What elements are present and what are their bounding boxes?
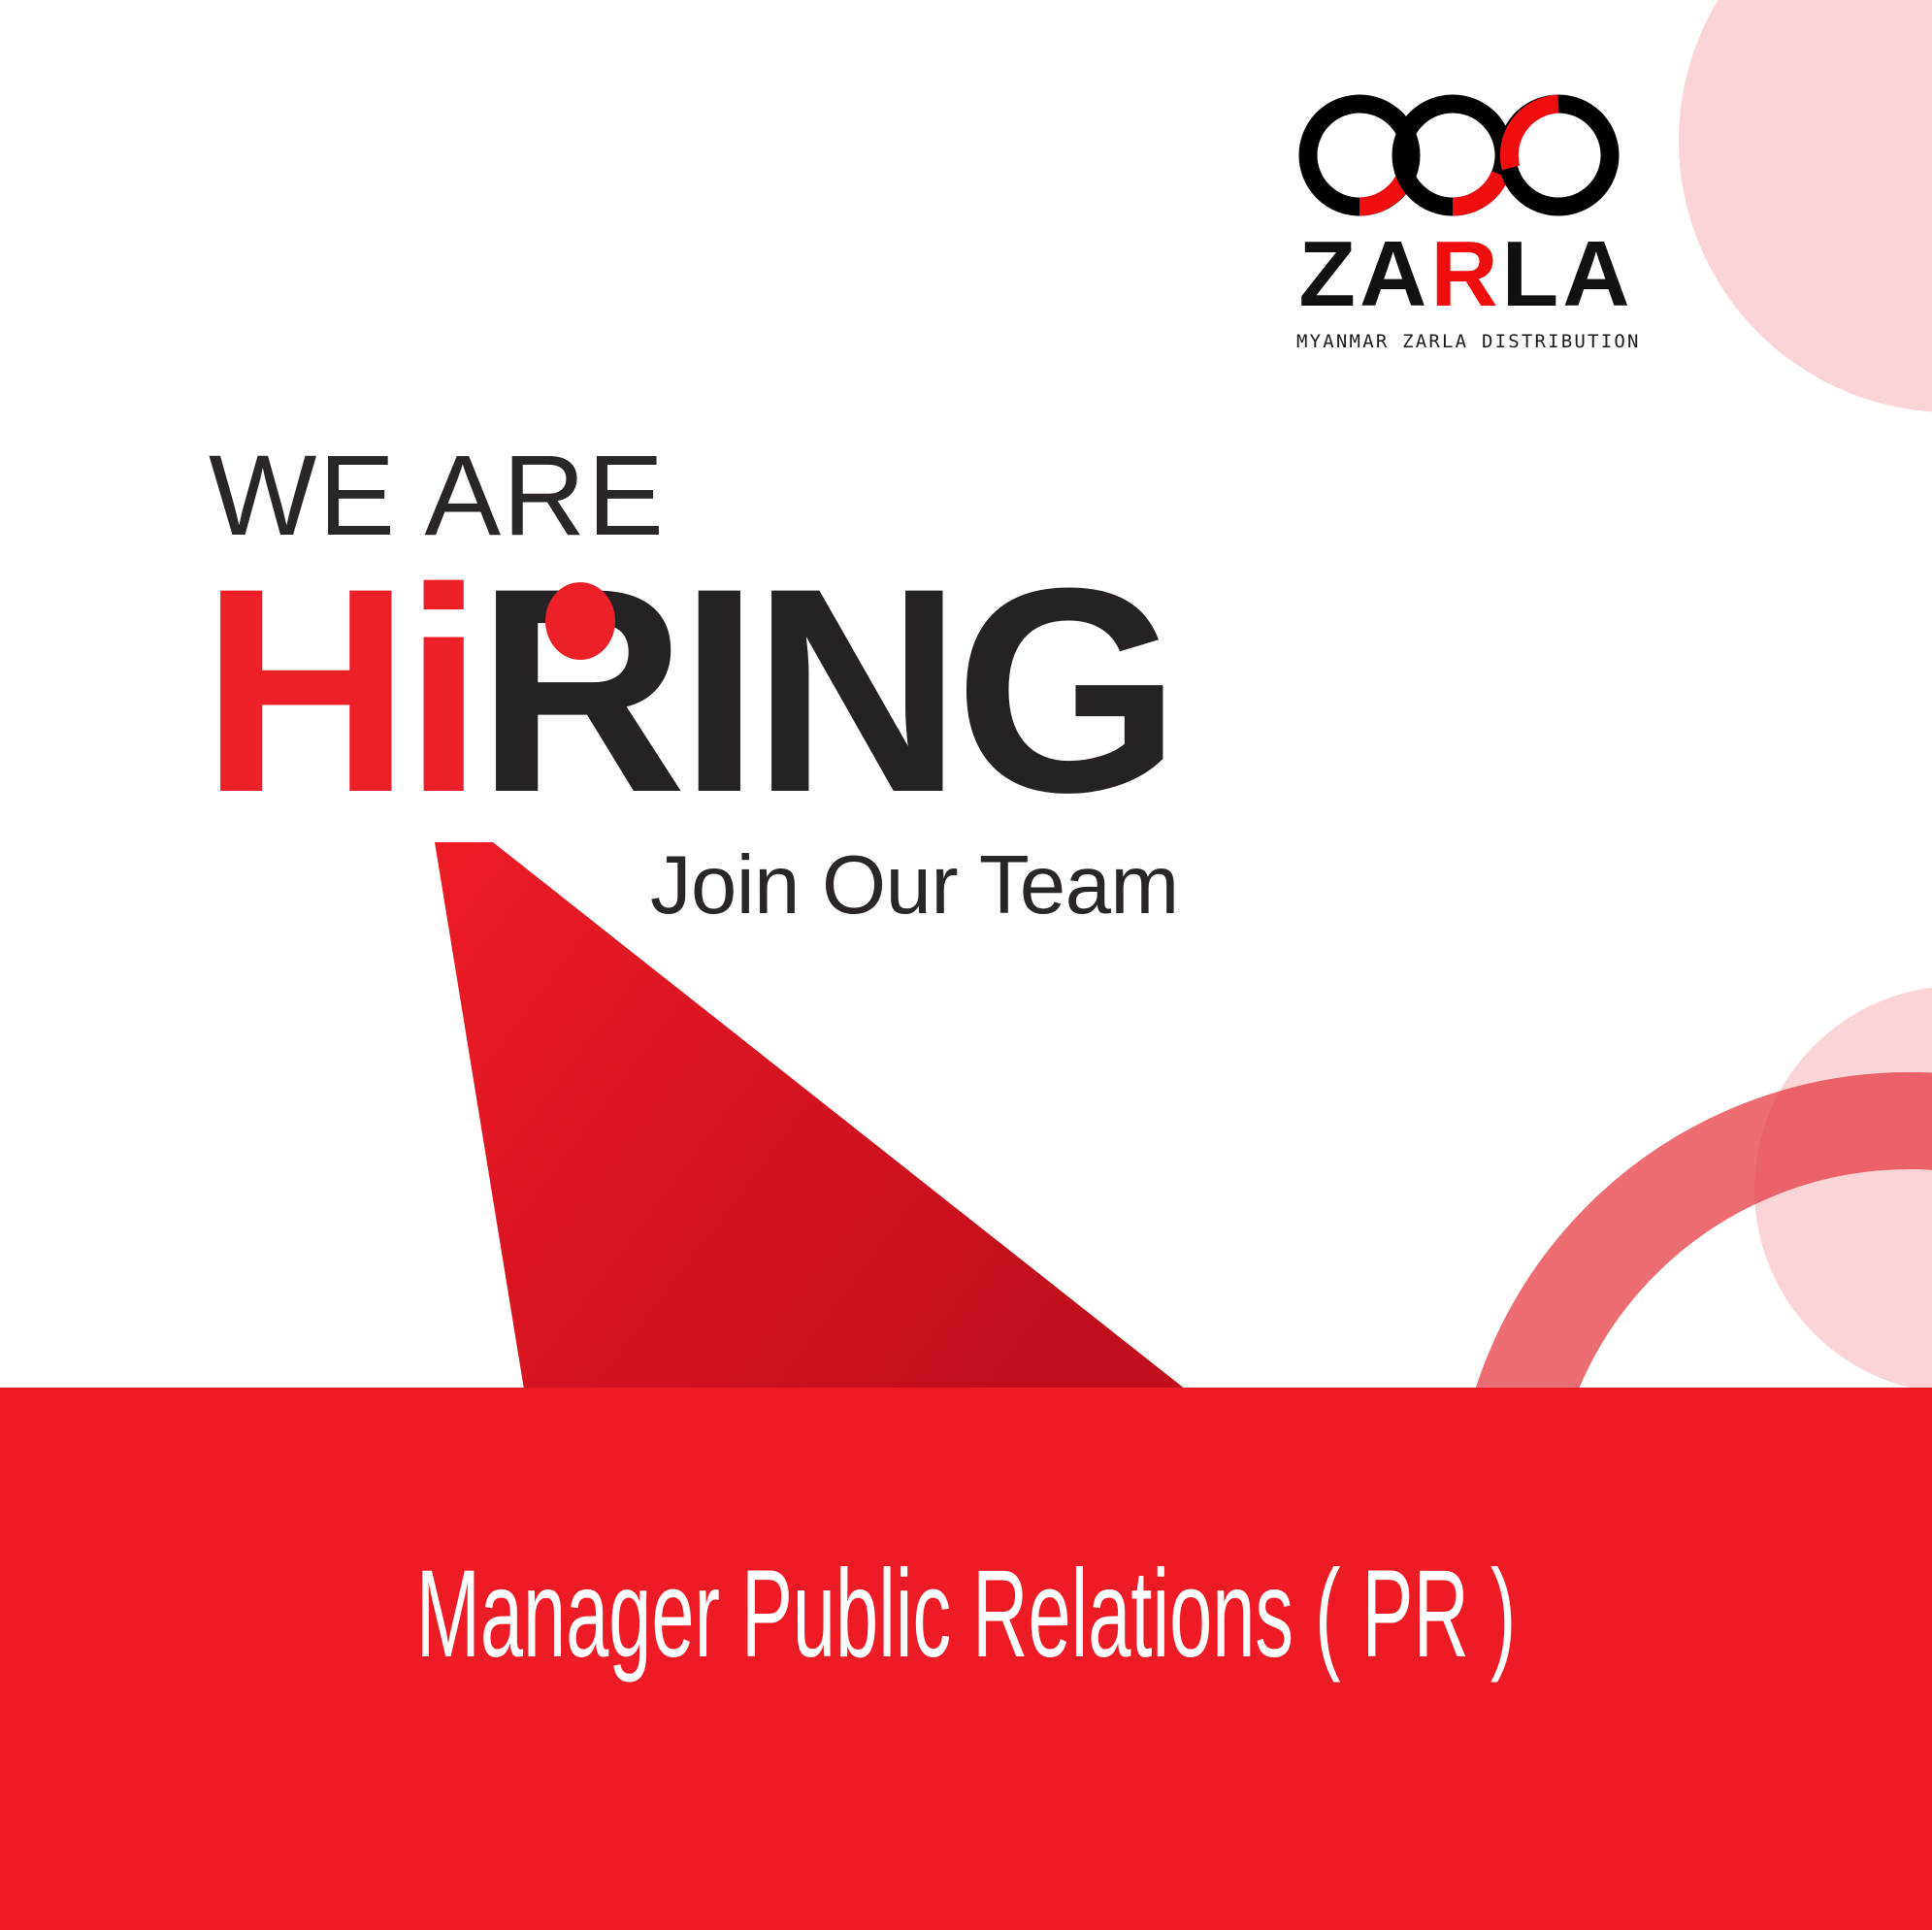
hiring-poster: ZARLA MYANMAR ZARLA DISTRIBUTION WE ARE … <box>0 0 1932 1930</box>
hiring-wordmark: HiRING <box>201 565 1173 815</box>
logo-wordmark-part2: LA <box>1502 222 1634 326</box>
hiring-wordmark-row: HiRING Join Our Team <box>209 565 1470 817</box>
hiring-rest-ring: RING <box>476 527 1173 853</box>
logo-tagline: MYANMAR ZARLA DISTRIBUTION <box>1296 331 1636 352</box>
subtitle-join-our-team: Join Our Team <box>650 844 1179 927</box>
headline-block: WE ARE HiRING Join Our Team <box>209 439 1470 817</box>
logo-wordmark-accent: R <box>1430 222 1501 326</box>
logo-ring-3-icon <box>1495 92 1621 218</box>
logo-rings-group <box>1296 92 1636 218</box>
logo-wordmark: ZARLA <box>1296 228 1636 321</box>
bottom-red-banner: Manager Public Relations ( PR ) <box>0 1388 1932 1930</box>
zarla-logo: ZARLA MYANMAR ZARLA DISTRIBUTION <box>1296 92 1636 352</box>
hiring-i-dot-icon <box>545 582 615 660</box>
hiring-accent-hi: Hi <box>201 527 476 853</box>
job-title: Manager Public Relations ( PR ) <box>367 1553 1564 1677</box>
logo-wordmark-part1: ZA <box>1298 222 1430 326</box>
